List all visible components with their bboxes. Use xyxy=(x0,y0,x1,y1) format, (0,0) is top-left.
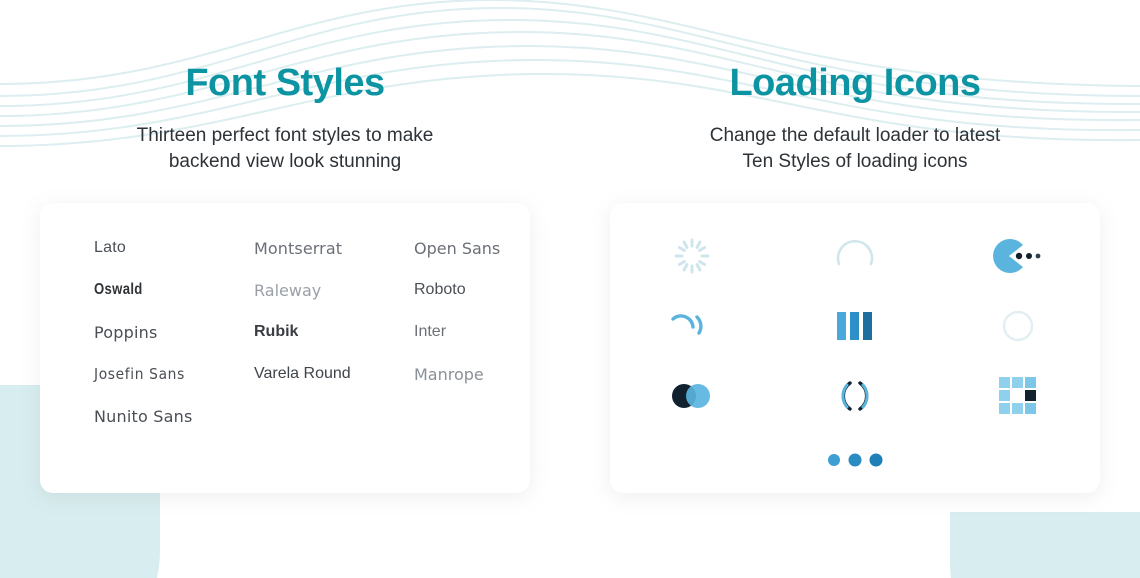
font-item[interactable]: Poppins xyxy=(94,323,254,342)
spinner-dashes-icon[interactable] xyxy=(662,226,722,286)
page-title-loading-icons: Loading Icons xyxy=(610,62,1100,105)
panel-font-styles: Font Styles Thirteen perfect font styles… xyxy=(0,0,570,578)
subtitle-font-styles: Thirteen perfect font styles to make bac… xyxy=(40,123,530,175)
pacman-dots-icon[interactable] xyxy=(988,226,1048,286)
font-item[interactable]: Open Sans xyxy=(414,239,530,258)
font-item[interactable]: Roboto xyxy=(414,281,530,300)
font-item[interactable]: Raleway xyxy=(254,281,414,300)
font-item[interactable]: Josefin Sans xyxy=(94,365,241,384)
font-item[interactable]: Inter xyxy=(414,323,530,342)
font-item[interactable]: Nunito Sans xyxy=(94,407,254,426)
panel-loading-icons: Loading Icons Change the default loader … xyxy=(570,0,1140,578)
three-dots-icon[interactable] xyxy=(825,430,885,490)
font-item[interactable]: Rubik xyxy=(254,323,414,342)
dual-circle-icon[interactable] xyxy=(662,366,722,426)
loader-list xyxy=(610,221,1100,493)
font-item[interactable]: Oswald xyxy=(94,281,225,300)
page-title-font-styles: Font Styles xyxy=(40,62,530,105)
font-item[interactable]: Manrope xyxy=(414,365,530,384)
subtitle-loading-icons: Change the default loader to latest Ten … xyxy=(610,123,1100,175)
font-item[interactable]: Varela Round xyxy=(254,365,414,384)
grid-squares-icon[interactable] xyxy=(988,366,1048,426)
font-styles-card: Lato Montserrat Open Sans Oswald Raleway… xyxy=(40,203,530,493)
parentheses-arc-icon[interactable] xyxy=(825,366,885,426)
page-root: Font Styles Thirteen perfect font styles… xyxy=(0,0,1140,578)
loading-icons-card xyxy=(610,203,1100,493)
font-list: Lato Montserrat Open Sans Oswald Raleway… xyxy=(40,239,530,426)
dual-arc-icon[interactable] xyxy=(662,296,722,356)
font-item[interactable]: Montserrat xyxy=(254,239,414,258)
bars-icon[interactable] xyxy=(825,296,885,356)
font-item[interactable]: Lato xyxy=(94,239,254,258)
spinner-arc-icon[interactable] xyxy=(825,226,885,286)
ring-icon[interactable] xyxy=(988,296,1048,356)
